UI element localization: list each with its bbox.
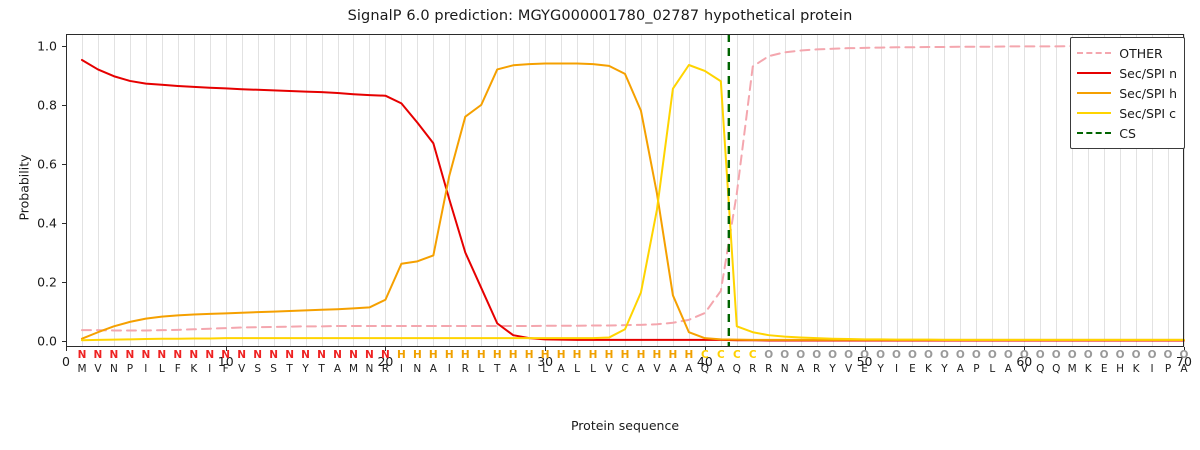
residue-letter: I: [1150, 364, 1153, 375]
residue-letter: A: [669, 364, 676, 375]
residue-letter: N: [366, 364, 374, 375]
residue-annotation: O: [924, 350, 933, 361]
legend-item[interactable]: OTHER: [1077, 43, 1177, 63]
residue-letter: H: [1116, 364, 1124, 375]
residue-letter: V: [94, 364, 101, 375]
residue-annotation: H: [509, 350, 518, 361]
residue-annotation: O: [780, 350, 789, 361]
residue-letter: L: [542, 364, 548, 375]
residue-annotation: N: [125, 350, 134, 361]
residue-letter: V: [1021, 364, 1028, 375]
residue-annotation: O: [988, 350, 997, 361]
residue-letter: C: [621, 364, 628, 375]
residue-annotation: N: [317, 350, 326, 361]
residue-letter: Q: [1052, 364, 1060, 375]
residue-annotation: N: [285, 350, 294, 361]
residue-annotation: O: [812, 350, 821, 361]
y-tick-label: 0.0: [37, 334, 57, 349]
residue-letter: A: [685, 364, 692, 375]
legend-item[interactable]: Sec/SPI h: [1077, 83, 1177, 103]
residue-letter: R: [813, 364, 820, 375]
residue-letter: M: [77, 364, 86, 375]
residue-letter: P: [127, 364, 133, 375]
legend-label: Sec/SPI h: [1119, 86, 1177, 101]
residue-letter: R: [749, 364, 756, 375]
residue-annotation: O: [1100, 350, 1109, 361]
residue-letter: L: [590, 364, 596, 375]
residue-annotation: H: [557, 350, 566, 361]
residue-letter: L: [574, 364, 580, 375]
residue-annotation: N: [221, 350, 230, 361]
residue-annotation: O: [1068, 350, 1077, 361]
residue-annotation: O: [1020, 350, 1029, 361]
residue-letter: I: [400, 364, 403, 375]
residue-letter: A: [510, 364, 517, 375]
residue-letter: A: [957, 364, 964, 375]
signalp-plot-figure: SignalP 6.0 prediction: MGYG000001780_02…: [0, 0, 1200, 450]
legend: OTHERSec/SPI nSec/SPI hSec/SPI cCS: [1070, 37, 1185, 149]
residue-letter: I: [448, 364, 451, 375]
residue-annotation: N: [269, 350, 278, 361]
residue-letter: K: [1085, 364, 1092, 375]
residue-letter: F: [223, 364, 229, 375]
legend-swatch: [1077, 87, 1111, 99]
residue-letter: L: [159, 364, 165, 375]
residue-letter: A: [717, 364, 724, 375]
residue-annotation: O: [940, 350, 949, 361]
residue-annotation: N: [78, 350, 87, 361]
residue-letter: A: [430, 364, 437, 375]
residue-annotation: O: [796, 350, 805, 361]
residue-annotation: N: [333, 350, 342, 361]
residue-letter: I: [528, 364, 531, 375]
residue-annotation: N: [94, 350, 103, 361]
residue-letter: P: [1165, 364, 1171, 375]
residue-annotation: O: [892, 350, 901, 361]
residue-annotation: N: [110, 350, 119, 361]
legend-swatch: [1077, 107, 1111, 119]
residue-letter: S: [270, 364, 277, 375]
legend-label: OTHER: [1119, 46, 1162, 61]
residue-letter: V: [845, 364, 852, 375]
residue-annotation: H: [397, 350, 406, 361]
y-tick-label: 0.8: [37, 97, 57, 112]
residue-letter: T: [286, 364, 292, 375]
residue-letter: R: [462, 364, 469, 375]
residue-annotation: O: [956, 350, 965, 361]
residue-annotation: H: [461, 350, 470, 361]
residue-letter: I: [208, 364, 211, 375]
residue-annotation: O: [1180, 350, 1189, 361]
residue-letter: M: [349, 364, 358, 375]
residue-annotation: O: [908, 350, 917, 361]
residue-annotation: O: [876, 350, 885, 361]
residue-annotation: O: [1052, 350, 1061, 361]
residue-letter: Y: [302, 364, 308, 375]
residue-annotation: N: [365, 350, 374, 361]
residue-letter: Q: [733, 364, 741, 375]
legend-item[interactable]: Sec/SPI n: [1077, 63, 1177, 83]
y-tick-label: 0.2: [37, 275, 57, 290]
residue-annotation: H: [477, 350, 486, 361]
residue-letter: A: [797, 364, 804, 375]
y-axis: Probability 0.00.20.40.60.81.0: [0, 34, 66, 347]
residue-letter: N: [781, 364, 789, 375]
legend-label: Sec/SPI n: [1119, 66, 1177, 81]
residue-letter: P: [973, 364, 979, 375]
residue-annotation: H: [589, 350, 598, 361]
residue-annotation: N: [189, 350, 198, 361]
residue-letter: R: [765, 364, 772, 375]
y-tick-label: 1.0: [37, 38, 57, 53]
residue-annotation: O: [1116, 350, 1125, 361]
residue-annotation: N: [141, 350, 150, 361]
residue-letter: V: [238, 364, 245, 375]
residue-annotation: N: [237, 350, 246, 361]
residue-annotation: H: [493, 350, 502, 361]
legend-swatch: [1077, 67, 1111, 79]
residue-annotation: O: [1004, 350, 1013, 361]
residue-annotation: H: [637, 350, 646, 361]
residue-annotation: O: [764, 350, 773, 361]
residue-annotation: H: [669, 350, 678, 361]
residue-letter: L: [989, 364, 995, 375]
residue-annotation: C: [701, 350, 709, 361]
residue-letter: A: [334, 364, 341, 375]
residue-annotation: O: [972, 350, 981, 361]
y-axis-label: Probability: [17, 68, 32, 308]
residue-annotation: O: [1084, 350, 1093, 361]
residue-letter: K: [925, 364, 932, 375]
residue-letter: T: [318, 364, 324, 375]
legend-swatch: [1077, 47, 1111, 59]
residue-annotation: N: [301, 350, 310, 361]
residue-annotation: H: [621, 350, 630, 361]
residue-annotation: H: [573, 350, 582, 361]
residue-annotation: N: [381, 350, 390, 361]
residue-annotation: O: [844, 350, 853, 361]
residue-letter: N: [413, 364, 421, 375]
residue-letter: T: [494, 364, 500, 375]
residue-letter: I: [144, 364, 147, 375]
residue-annotation: O: [1036, 350, 1045, 361]
residue-letter: Q: [1036, 364, 1044, 375]
residue-letter: A: [1005, 364, 1012, 375]
residue-annotation: N: [349, 350, 358, 361]
residue-letter: Y: [829, 364, 835, 375]
residue-letter: E: [861, 364, 868, 375]
legend-swatch: [1077, 127, 1111, 139]
residue-letter: E: [1101, 364, 1108, 375]
residue-letter: Y: [941, 364, 947, 375]
residue-annotation: N: [157, 350, 166, 361]
residue-letter: Q: [701, 364, 709, 375]
residue-letter: A: [558, 364, 565, 375]
residue-annotation: H: [684, 350, 693, 361]
residue-annotation: C: [717, 350, 725, 361]
y-tick-label: 0.4: [37, 215, 57, 230]
residue-letter: V: [653, 364, 660, 375]
residue-annotation: H: [445, 350, 454, 361]
residue-annotation: H: [525, 350, 534, 361]
x-axis-label: Protein sequence: [66, 418, 1184, 433]
residue-letter: F: [175, 364, 181, 375]
residue-letter: A: [1180, 364, 1187, 375]
residue-annotation: H: [429, 350, 438, 361]
residue-letter: N: [110, 364, 118, 375]
residue-annotation: N: [253, 350, 262, 361]
residue-annotation: C: [733, 350, 741, 361]
residue-letter: R: [382, 364, 389, 375]
residue-annotation: H: [605, 350, 614, 361]
residue-annotation: O: [1164, 350, 1173, 361]
residue-annotation: O: [1148, 350, 1157, 361]
residue-letter: L: [478, 364, 484, 375]
legend-item[interactable]: Sec/SPI c: [1077, 103, 1177, 123]
residue-letter: I: [895, 364, 898, 375]
residue-annotation: O: [1132, 350, 1141, 361]
plot-area: [66, 34, 1184, 347]
residue-annotation: H: [541, 350, 550, 361]
residue-letter: E: [909, 364, 916, 375]
residue-letter: K: [1133, 364, 1140, 375]
residue-annotation: O: [860, 350, 869, 361]
y-tick-label: 0.6: [37, 156, 57, 171]
residue-annotation: N: [173, 350, 182, 361]
axes-frame: [66, 34, 1184, 347]
residue-annotation: C: [749, 350, 757, 361]
page-title: SignalP 6.0 prediction: MGYG000001780_02…: [0, 8, 1200, 24]
residue-annotation: H: [653, 350, 662, 361]
residue-letter: S: [254, 364, 261, 375]
residue-annotation: O: [828, 350, 837, 361]
residue-annotation: N: [205, 350, 214, 361]
legend-label: Sec/SPI c: [1119, 106, 1176, 121]
legend-label: CS: [1119, 126, 1136, 141]
legend-item[interactable]: CS: [1077, 123, 1177, 143]
residue-letter: A: [637, 364, 644, 375]
residue-letter: Y: [877, 364, 883, 375]
residue-annotation: H: [413, 350, 422, 361]
residue-track: NMNVNNNPNINLNFNKNINFNVNSNSNTNYNTNANMNNNR…: [66, 348, 1184, 382]
residue-letter: M: [1068, 364, 1077, 375]
residue-letter: K: [190, 364, 197, 375]
residue-letter: V: [605, 364, 612, 375]
